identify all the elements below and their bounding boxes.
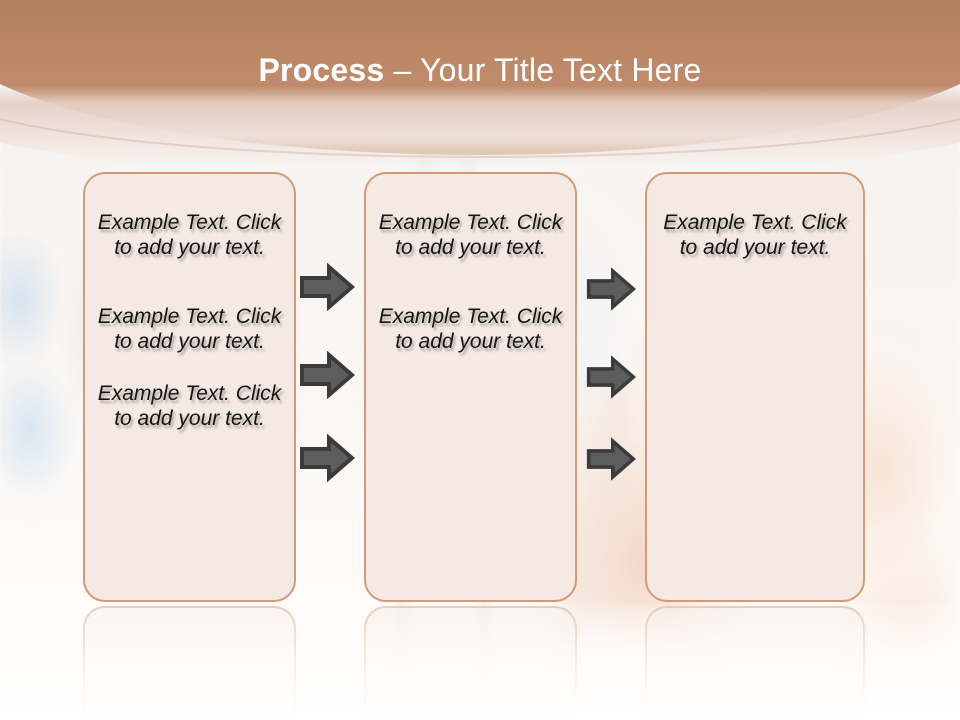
process-arrow-icon-3[interactable] (299, 434, 355, 482)
page-title: Process – Your Title Text Here (0, 50, 960, 90)
process-box-3-paragraph-1: Example Text. Click to add your text. (659, 210, 851, 260)
presentation-slide: Process – Your Title Text Here Example T… (0, 0, 960, 720)
page-title-bold: Process (258, 52, 384, 88)
process-arrow-icon-4[interactable] (586, 267, 636, 311)
process-arrow-icon-1[interactable] (299, 263, 355, 311)
process-arrow-icon-6[interactable] (586, 437, 636, 481)
process-box-1[interactable]: Example Text. Click to add your text. Ex… (83, 172, 296, 602)
process-box-2-paragraph-1: Example Text. Click to add your text. (378, 210, 563, 260)
process-arrow-icon-2[interactable] (299, 351, 355, 399)
background-bottom-wash (0, 600, 960, 720)
process-box-1-paragraph-2: Example Text. Click to add your text. (97, 304, 282, 354)
page-title-rest: – Your Title Text Here (384, 52, 701, 88)
process-box-2[interactable]: Example Text. Click to add your text. Ex… (364, 172, 577, 602)
process-box-2-paragraph-2: Example Text. Click to add your text. (378, 304, 563, 354)
process-arrow-icon-5[interactable] (586, 355, 636, 399)
process-box-1-paragraph-3: Example Text. Click to add your text. (97, 210, 282, 260)
process-box-3[interactable]: Example Text. Click to add your text. (645, 172, 865, 602)
process-box-1-paragraph-1: Example Text. Click to add your text. (97, 381, 282, 431)
